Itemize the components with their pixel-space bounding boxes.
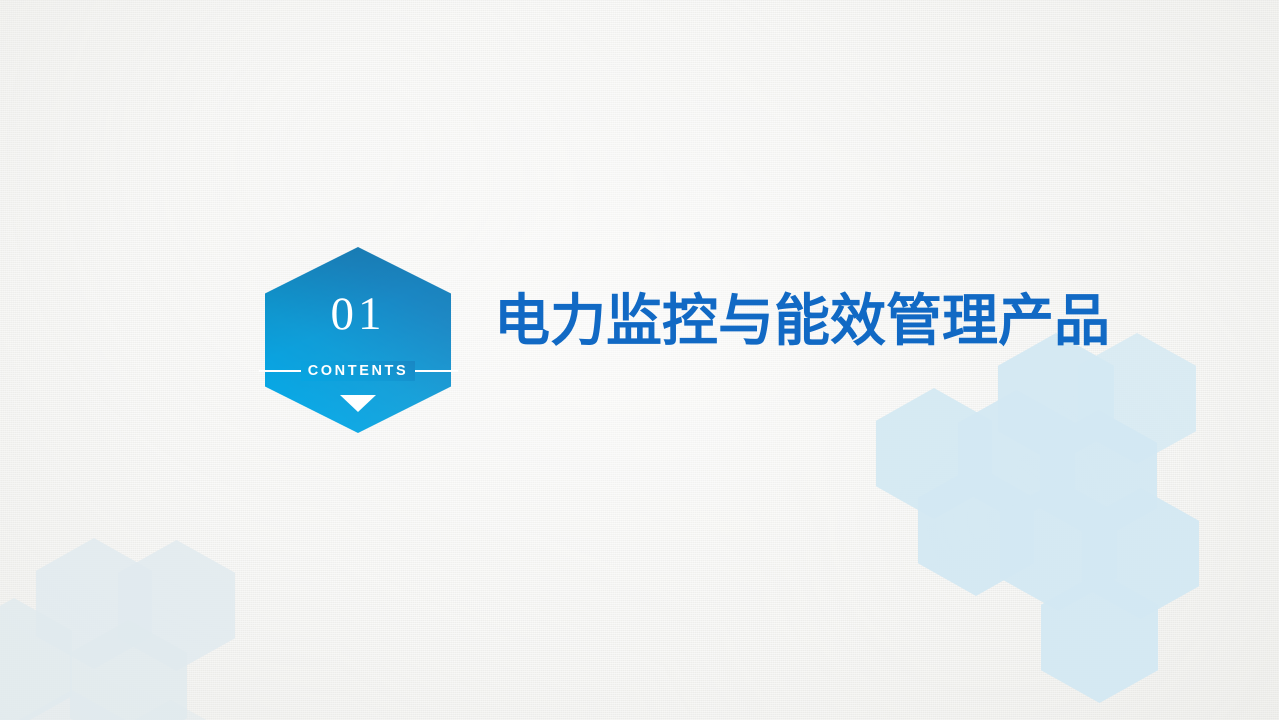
hexagon-decoration-right	[0, 0, 1279, 720]
badge-label-wrap: CONTENTS	[262, 361, 454, 381]
decorative-hexagon	[14, 690, 130, 720]
decorative-hexagon	[112, 700, 229, 720]
decorative-hexagon	[876, 388, 992, 519]
decorative-hexagon	[1000, 480, 1117, 611]
decorative-hexagon	[1040, 410, 1157, 541]
badge-section-number: 01	[262, 291, 454, 338]
decorative-hexagon	[36, 538, 152, 669]
paper-vignette-overlay	[0, 0, 1279, 720]
triangle-down-icon	[340, 395, 376, 412]
slide-canvas: 01 CONTENTS 电力监控与能效管理产品	[0, 0, 1279, 720]
decorative-hexagon	[0, 598, 72, 720]
section-title: 电力监控与能效管理产品	[494, 288, 1110, 354]
contents-badge[interactable]: 01 CONTENTS	[262, 243, 454, 437]
paper-texture-overlay	[0, 0, 1279, 720]
decorative-hexagon	[118, 540, 235, 671]
decorative-hexagon	[1082, 488, 1199, 619]
decorative-hexagon	[1041, 572, 1158, 703]
decorative-hexagon	[70, 620, 187, 720]
decorative-hexagon	[918, 465, 1034, 596]
hexagon-decoration-bottom-left	[0, 0, 1279, 720]
badge-contents-label: CONTENTS	[301, 361, 416, 381]
decorative-hexagon	[958, 390, 1075, 521]
